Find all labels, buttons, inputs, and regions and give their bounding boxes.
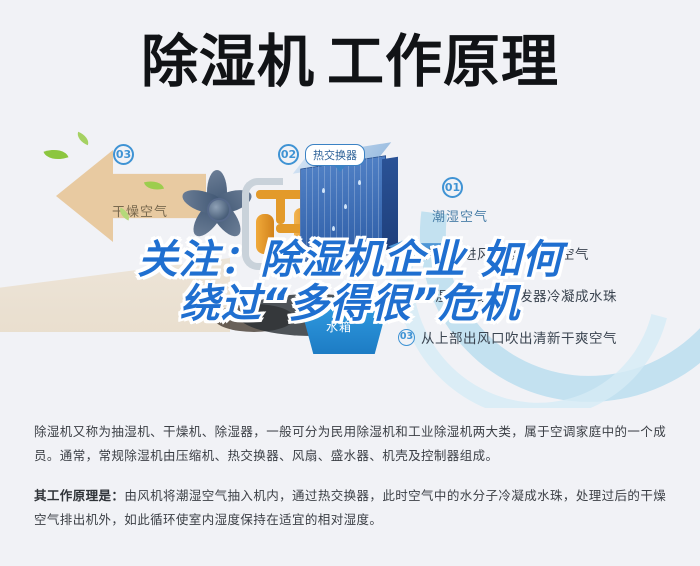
list-item: 03 从上部出风口吹出清新干爽空气: [398, 327, 690, 347]
body-text: 除湿机又称为抽湿机、干燥机、除湿器，一般可分为民用除湿机和工业除湿机两大类，属于…: [34, 420, 668, 532]
paragraph-2: 其工作原理是：由风机将潮湿空气抽入机内，通过热交换器，此时空气中的水分子冷凝成水…: [34, 484, 668, 532]
list-item: 01 从下部进风口吸进潮湿空气: [398, 243, 690, 263]
leaf-icon: [75, 132, 91, 146]
step-text: 从上部出风口吹出清新干爽空气: [421, 327, 617, 347]
leaf-icon: [44, 145, 69, 164]
heat-exchanger-callout: 热交换器: [305, 144, 365, 166]
paragraph-1: 除湿机又称为抽湿机、干燥机、除湿器，一般可分为民用除湿机和工业除湿机两大类，属于…: [34, 420, 668, 468]
steps-list: 01 从下部进风口吸进潮湿空气 02 潮湿空气经过蒸发器冷凝成水珠 03 从上部…: [398, 243, 690, 369]
badge-number: 03: [113, 144, 134, 165]
ground-shade: [0, 258, 230, 332]
step-badge: 01: [398, 245, 415, 262]
title-part-1: 除湿机: [141, 29, 315, 95]
dry-air-badge: 03: [113, 143, 134, 165]
paragraph-2-lead: 其工作原理是：: [34, 488, 124, 503]
title-part-2: 工作原理: [327, 29, 559, 95]
humid-air-badge: 01: [442, 176, 463, 198]
paragraph-1-text: 除湿机又称为抽湿机、干燥机、除湿器，一般可分为民用除湿机和工业除湿机两大类，属于…: [34, 424, 666, 463]
step-text: 潮湿空气经过蒸发器冷凝成水珠: [421, 285, 617, 305]
water-tank-label: 水箱: [326, 318, 352, 335]
paragraph-2-text: 由风机将潮湿空气抽入机内，通过热交换器，此时空气中的水分子冷凝成水珠，处理过后的…: [34, 488, 666, 527]
step-text: 从下部进风口吸进潮湿空气: [421, 243, 589, 263]
infographic-page: 除湿机工作原理 干燥空气 03: [0, 0, 700, 566]
list-item: 02 潮湿空气经过蒸发器冷凝成水珠: [398, 285, 690, 305]
humid-air-label: 潮湿空气: [432, 206, 488, 225]
page-title: 除湿机工作原理: [0, 22, 700, 102]
step-badge: 03: [398, 329, 415, 346]
heat-exchanger-side: [382, 157, 398, 252]
badge-number: 02: [278, 144, 299, 165]
badge-number: 01: [442, 177, 463, 198]
step-badge: 02: [398, 287, 415, 304]
heat-exchanger-badge: 02: [278, 143, 299, 165]
heat-exchanger-label: 热交换器: [313, 149, 357, 162]
